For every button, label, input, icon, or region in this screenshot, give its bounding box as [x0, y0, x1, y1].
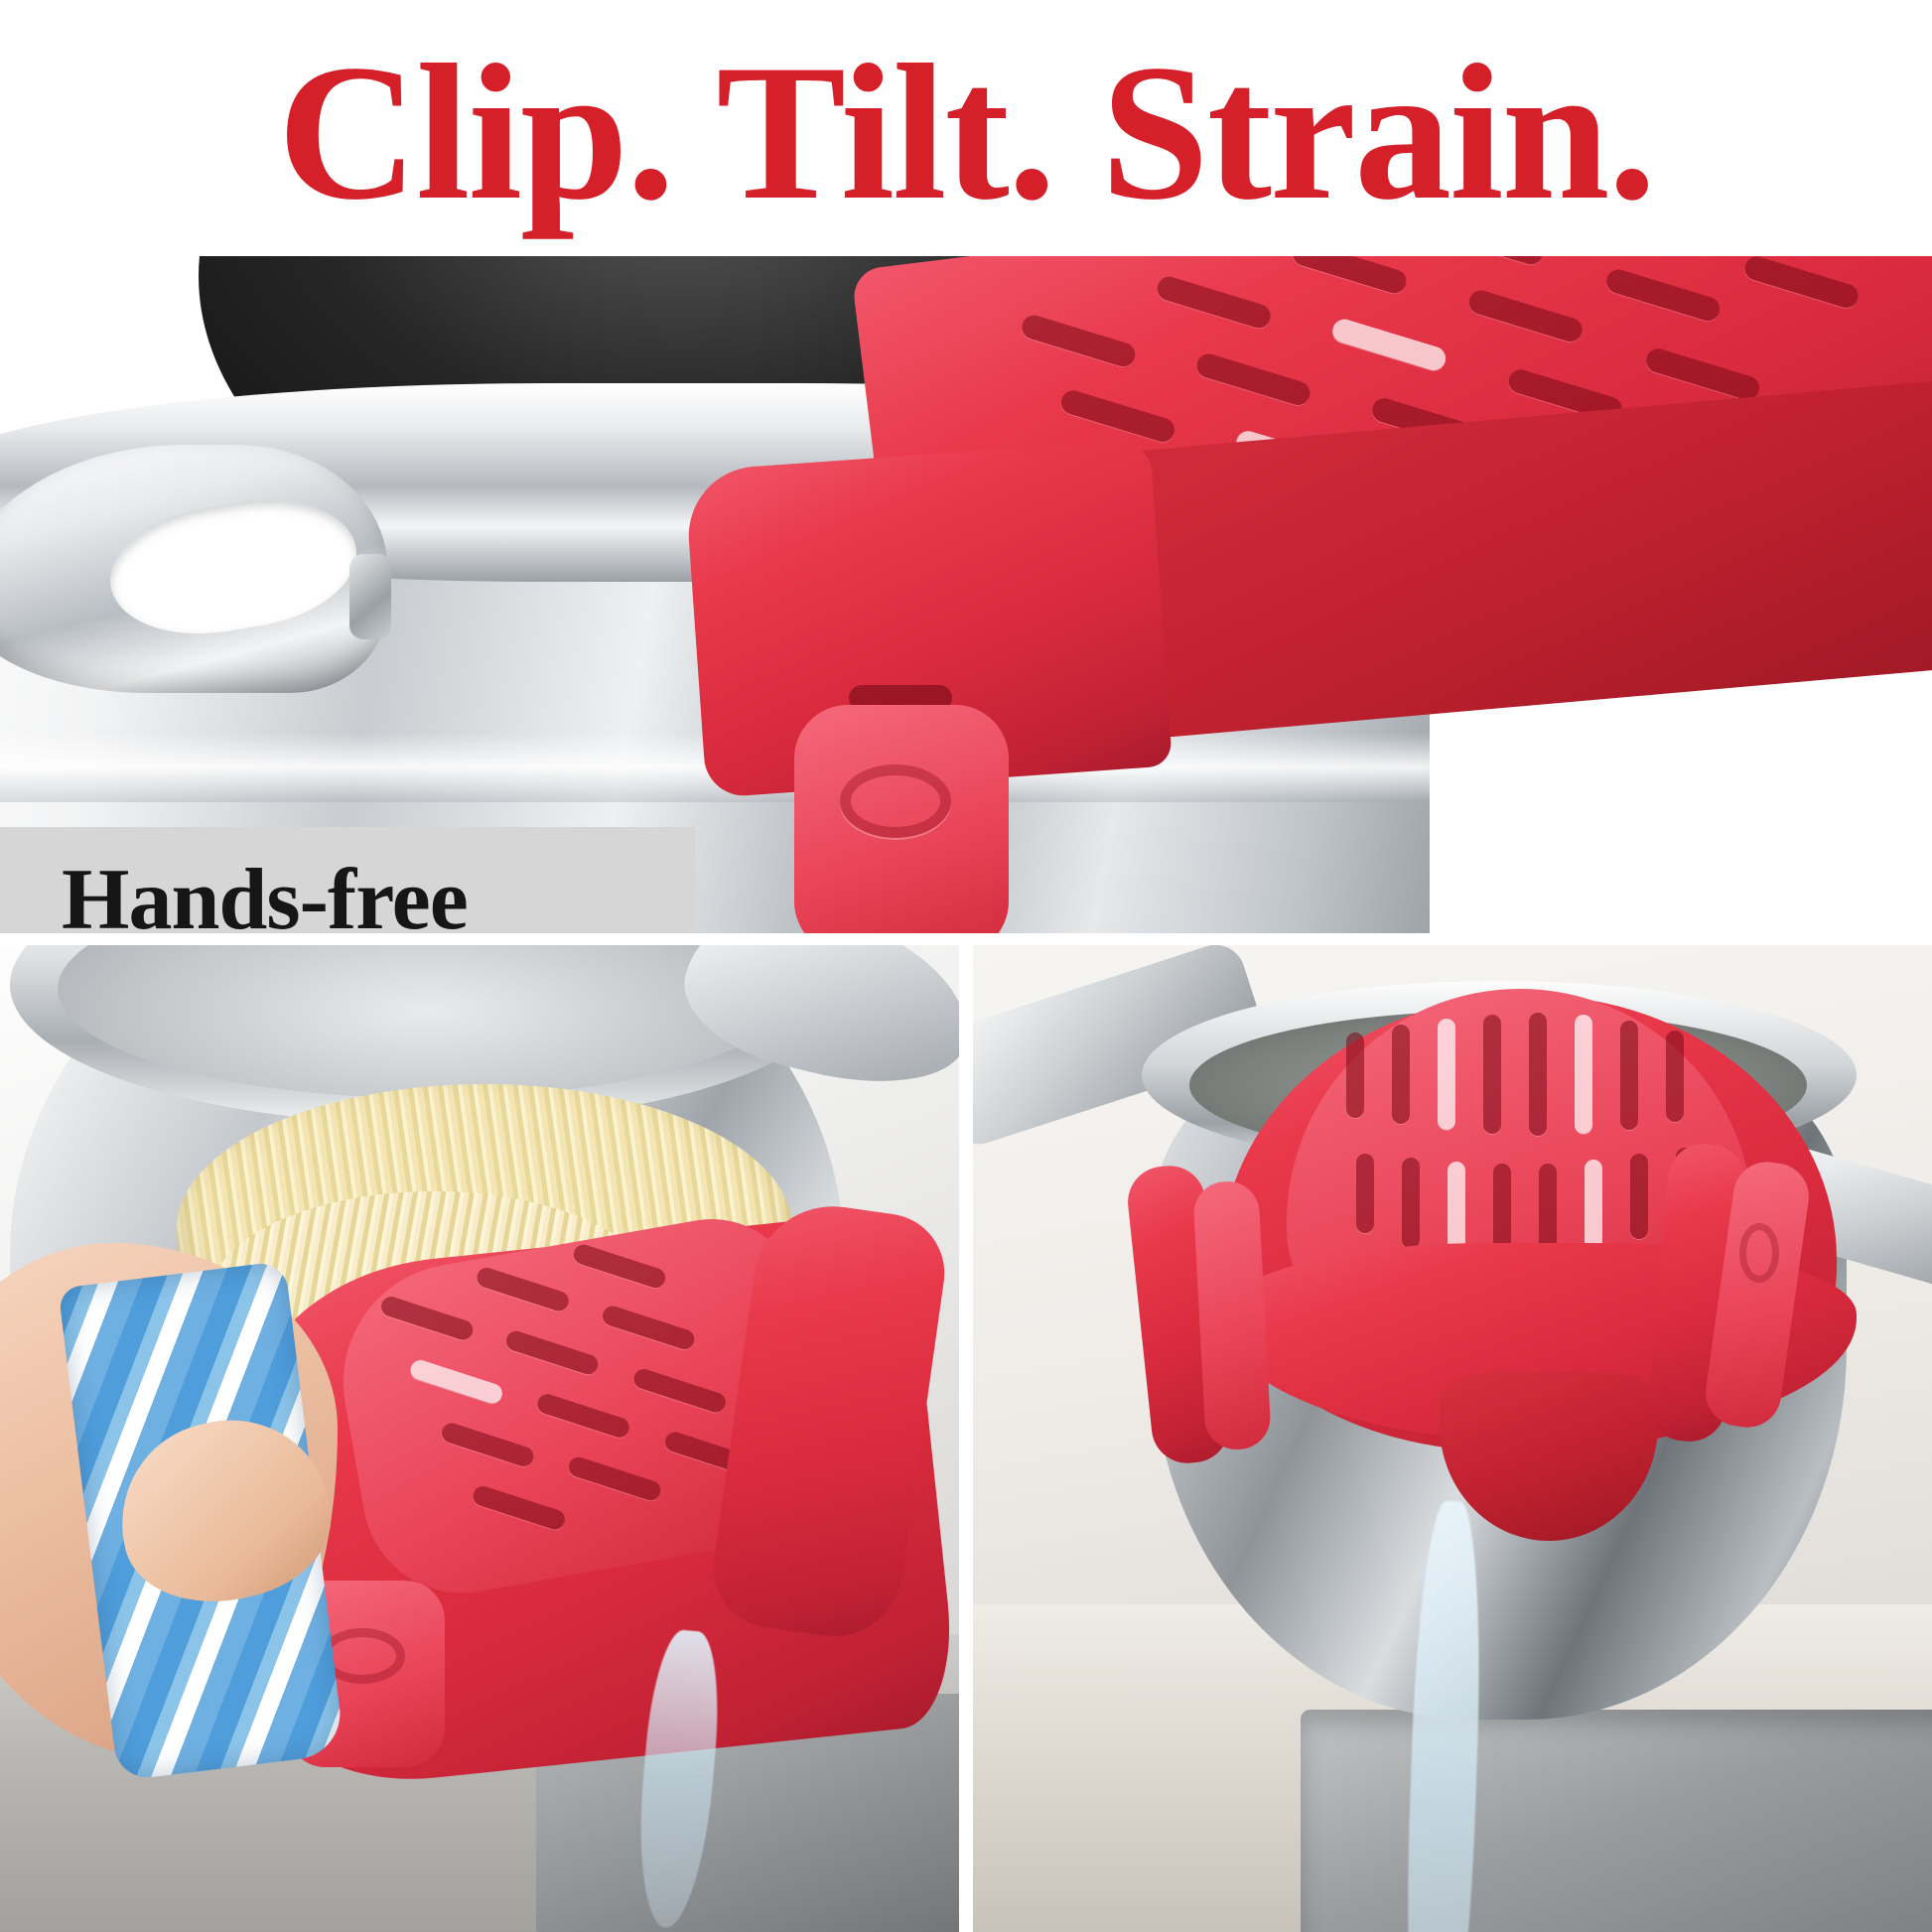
headline-band: Clip. Tilt. Strain. [0, 0, 1932, 256]
feature-panel-efficient: Efficient Built-in spout maximizes water… [973, 945, 1932, 1932]
clamp-tab-oval-emboss [1739, 1223, 1779, 1283]
panel-divider-horizontal [0, 933, 1932, 945]
feature-panel-hands-free: Hands-free Easily clamps to edges for se… [0, 256, 1932, 933]
photo-efficient [973, 945, 1932, 1932]
pot-handle-rivet [349, 554, 391, 639]
clamp-tab-oval-emboss [840, 764, 951, 838]
sink-basin [1301, 1710, 1932, 1932]
panel-divider-vertical [959, 945, 973, 1932]
strainer-wing-left-inner [1192, 1179, 1272, 1450]
caption-hands-free: Hands-free Easily clamps to edges for se… [0, 827, 695, 933]
page-title: Clip. Tilt. Strain. [0, 34, 1932, 232]
feature-panel-nonstick-grip: Nonstick Grip Prevents food from falling… [0, 945, 959, 1932]
photo-nonstick-grip [0, 945, 959, 1932]
caption-title: Hands-free [62, 857, 665, 933]
